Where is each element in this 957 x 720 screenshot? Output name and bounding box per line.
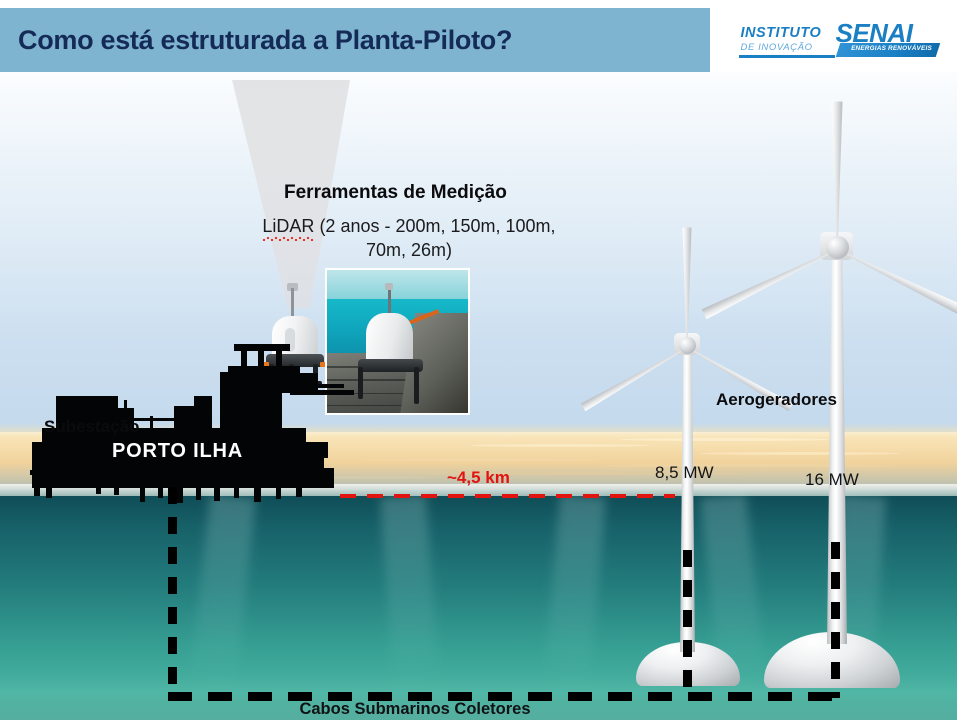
platform-pile (234, 484, 239, 498)
submarine-cables-caption: Cabos Submarinos Coletores Transportar a… (205, 700, 625, 720)
turbine-hub (826, 236, 849, 259)
logo-ribbon-text: ENERGIAS RENOVÁVEIS (848, 45, 936, 52)
photo-device-base (358, 359, 423, 372)
wave-stripe (620, 438, 830, 441)
distance-label: ~4,5 km (447, 468, 510, 488)
platform-pile (296, 484, 302, 497)
lidar-description: LiDAR (2 anos - 200m, 150m, 100m, 70m, 2… (254, 214, 564, 262)
platform-pile (214, 484, 220, 501)
platform-gangway-rail (300, 384, 344, 388)
logo-inovacao-text: DE INOVAÇÃO (741, 42, 813, 53)
wave-stripe (700, 452, 900, 455)
turbine-capacity-label-1: 8,5 MW (655, 463, 714, 483)
platform-pile (196, 484, 201, 500)
light-ray (380, 494, 439, 687)
senai-logo: INSTITUTO SENAI DE INOVAÇÃO ENERGIAS REN… (710, 8, 957, 72)
platform-extension (282, 468, 334, 488)
slide: Como está estruturada a Planta-Piloto? I… (0, 0, 957, 720)
submarine-cable-vertical-substation (168, 487, 177, 699)
platform-leg (34, 456, 40, 496)
logo-instituto-text: INSTITUTO (741, 25, 822, 41)
logo-inner: INSTITUTO SENAI DE INOVAÇÃO ENERGIAS REN… (728, 17, 940, 63)
platform-pile (254, 484, 261, 502)
platform-pile (276, 484, 281, 499)
photo-device-leg (414, 367, 419, 404)
submarine-cables-title: Cabos Submarinos Coletores (205, 700, 625, 719)
slide-header: Como está estruturada a Planta-Piloto? (0, 8, 710, 72)
turbine-hub (679, 337, 696, 354)
platform-extension (282, 442, 328, 458)
photo-device-leg (358, 367, 363, 398)
lidar-term-text: LiDAR (262, 216, 314, 236)
wave-stripe (600, 464, 900, 467)
wave-stripe (470, 444, 650, 447)
submarine-cable-riser-8-5mw (683, 550, 692, 698)
platform-pile (176, 484, 183, 503)
photo-device-mast-top (385, 283, 393, 290)
platform-name-label: PORTO ILHA (112, 440, 243, 463)
turbines-heading: Aerogeradores (716, 390, 837, 410)
spellcheck-underline-icon (262, 237, 314, 241)
lidar-term: LiDAR (262, 214, 314, 238)
platform-pile (158, 484, 163, 498)
submarine-cable-riser-16mw (831, 542, 840, 698)
light-ray (544, 494, 606, 687)
photo-device-dome (366, 313, 413, 364)
substation-label: Subestação (44, 417, 139, 437)
platform-pile (140, 484, 145, 502)
measurement-tools-heading: Ferramentas de Medição (284, 182, 507, 204)
platform-mid-block (194, 396, 212, 434)
platform-leg (30, 470, 58, 475)
light-ray (190, 494, 256, 688)
logo-underline (739, 55, 835, 58)
lidar-mast (291, 288, 294, 318)
turbine-capacity-label-2: 16 MW (805, 470, 859, 490)
platform-antenna (124, 400, 127, 416)
illustration-scene: PORTO ILHA Ferramentas de Medição (0, 72, 957, 720)
page-title: Como está estruturada a Planta-Piloto? (18, 25, 512, 56)
platform-pile (114, 482, 119, 495)
photo-device-mast (388, 287, 391, 316)
wave-stripe (360, 458, 600, 461)
platform-gangway (290, 390, 354, 395)
lidar-detail-text: (2 anos - 200m, 150m, 100m, 70m, 26m) (314, 216, 555, 260)
platform-pile (96, 482, 101, 494)
photo-sky (327, 270, 468, 299)
distance-dashed-line (340, 494, 675, 498)
